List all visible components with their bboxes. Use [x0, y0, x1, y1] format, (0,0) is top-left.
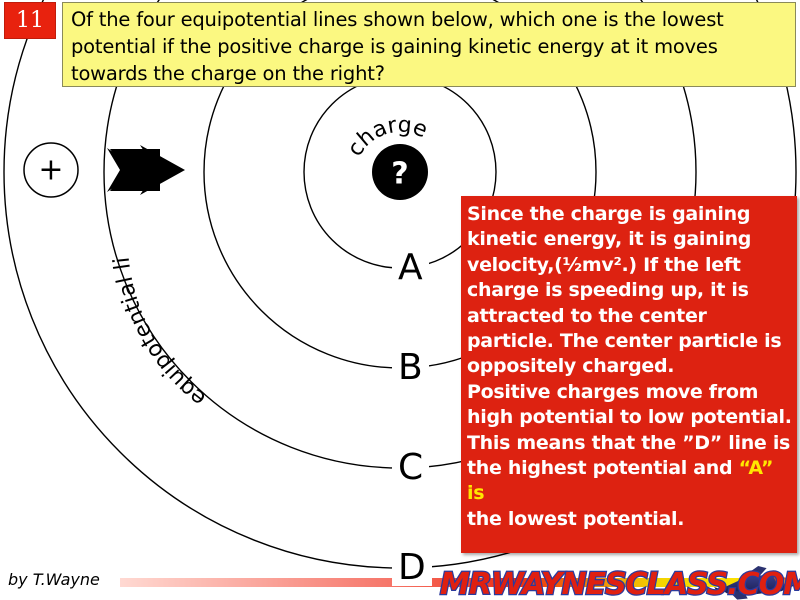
- source-charge: +: [24, 143, 78, 197]
- label-b-text: B: [398, 347, 423, 388]
- answer-line-4: charge is speeding up, it is: [467, 278, 793, 303]
- question-number-badge: 11: [4, 2, 56, 39]
- answer-line-2: kinetic energy, it is gaining: [467, 227, 793, 252]
- equipotential-label-b: B: [392, 350, 429, 386]
- answer-line-6: particle. The center particle is: [467, 329, 793, 354]
- answer-line-1: Since the charge is gaining: [467, 202, 793, 227]
- slide-canvas: equipotential line + ? charge: [0, 0, 800, 600]
- answer-line-12: the lowest potential.: [467, 507, 793, 532]
- label-a-text: A: [398, 247, 423, 288]
- label-c-text: C: [398, 447, 423, 488]
- question-number: 11: [16, 10, 44, 32]
- author-byline: by T.Wayne: [8, 570, 100, 589]
- center-charge: ? charge: [343, 113, 431, 200]
- answer-box: Since the charge is gaining kinetic ener…: [461, 196, 797, 553]
- equipotential-label-c: C: [392, 450, 429, 486]
- answer-line-11: the highest potential and “A” is: [467, 456, 793, 507]
- source-charge-symbol: +: [38, 153, 63, 188]
- answer-line-9: high potential to low potential.: [467, 405, 793, 430]
- answer-line-5: attracted to the center: [467, 304, 793, 329]
- answer-line-10: This means that the ”D” line is: [467, 431, 793, 456]
- motion-arrow-fill: [110, 149, 160, 191]
- question-text: Of the four equipotential lines shown be…: [71, 6, 789, 87]
- answer-line-8: Positive charges move from: [467, 380, 793, 405]
- center-charge-symbol: ?: [391, 157, 408, 192]
- question-box: Of the four equipotential lines shown be…: [62, 2, 796, 87]
- site-logo: MRWAYNESCLASS.COM: [440, 570, 800, 600]
- answer-line-7: oppositely charged.: [467, 354, 793, 379]
- answer-line-3: velocity,(½mv².) If the left: [467, 253, 793, 278]
- answer-line-11-plain: the highest potential and: [467, 457, 739, 479]
- equipotential-label-a: A: [392, 250, 429, 286]
